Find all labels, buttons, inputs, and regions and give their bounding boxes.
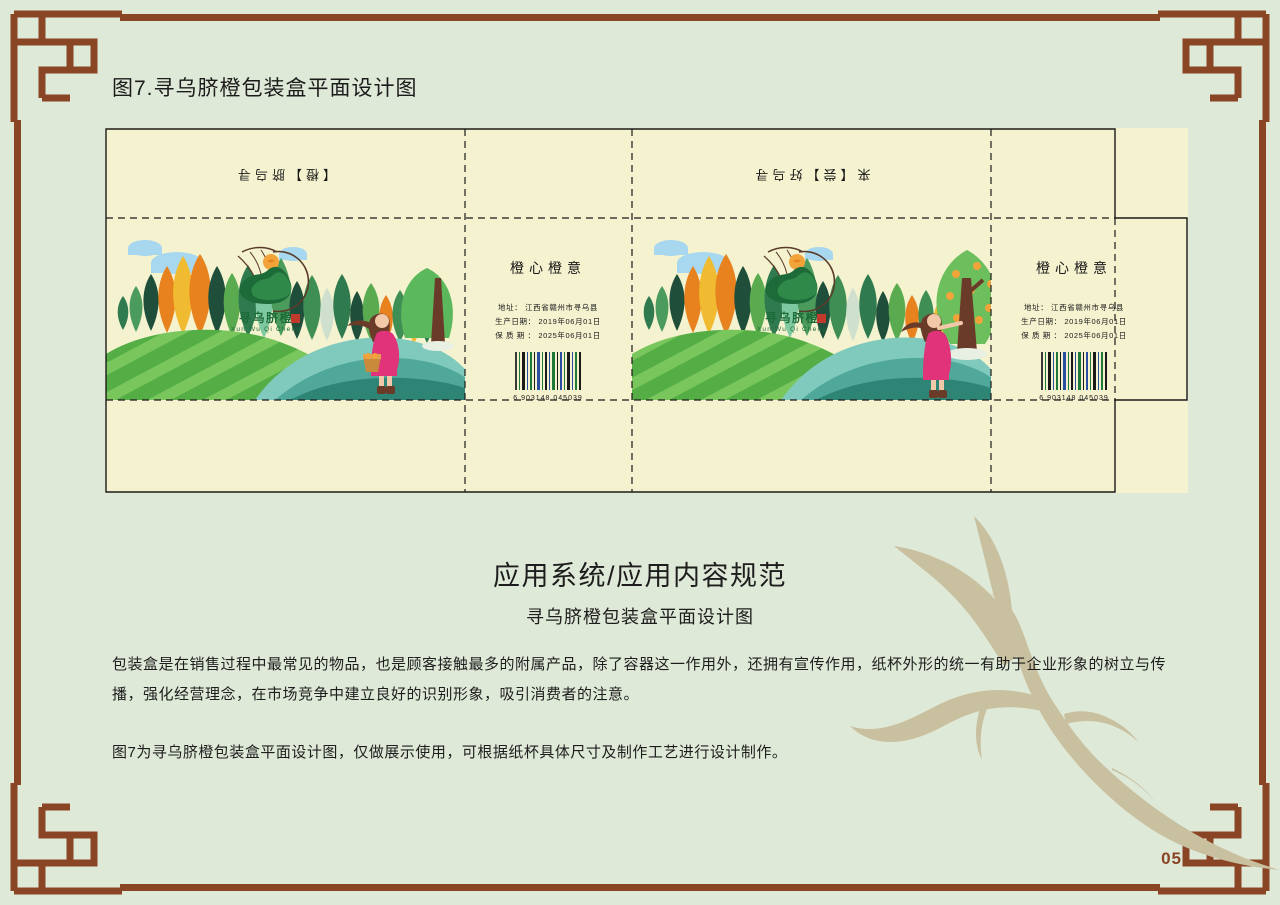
svg-text:6 903148 045039: 6 903148 045039 [1039, 395, 1109, 402]
corner-ornament-bottom-left [8, 777, 128, 897]
corner-ornament-top-right [1152, 8, 1272, 128]
figure-title: 图7.寻乌脐橙包装盒平面设计图 [112, 72, 418, 102]
main-panel-illustration-2: 寻乌脐橙 Xun Wu Qi Cheng [626, 218, 1003, 400]
section-subheading: 寻乌脐橙包装盒平面设计图 [0, 603, 1280, 629]
page-border-bottom [120, 884, 1160, 891]
svg-text:6 903148 045039: 6 903148 045039 [513, 395, 583, 402]
svg-text:生产日期： 2019年06月01日: 生产日期： 2019年06月01日 [495, 316, 601, 326]
packaging-dieline-artboard: 寻乌脐橙 Xun Wu Qi Cheng [105, 128, 1188, 493]
svg-text:地址： 江西省赣州市寻乌县: 地址： 江西省赣州市寻乌县 [498, 302, 598, 312]
svg-text:地址： 江西省赣州市寻乌县: 地址： 江西省赣州市寻乌县 [1024, 302, 1124, 312]
svg-text:橙心橙意: 橙心橙意 [510, 260, 586, 276]
svg-text:保 质 期 ： 2025年06月01日: 保 质 期 ： 2025年06月01日 [495, 330, 601, 340]
svg-text:寻乌脐橙: 寻乌脐橙 [239, 310, 293, 325]
top-flap-text-2: 来【尝】好乌寻 [751, 167, 870, 182]
main-panel-illustration-1: 寻乌脐橙 Xun Wu Qi Cheng [105, 218, 477, 400]
paragraph-1: 包装盒是在销售过程中最常见的物品，也是顾客接触最多的附属产品，除了容器这一作用外… [112, 650, 1172, 710]
page-number: 05 [1161, 849, 1182, 869]
svg-text:保 质 期 ： 2025年06月01日: 保 质 期 ： 2025年06月01日 [1021, 330, 1127, 340]
section-heading: 应用系统/应用内容规范 [0, 554, 1280, 593]
svg-text:生产日期： 2019年06月01日: 生产日期： 2019年06月01日 [1021, 316, 1127, 326]
svg-text:Xun Wu Qi Cheng: Xun Wu Qi Cheng [757, 326, 827, 333]
corner-ornament-top-left [8, 8, 128, 128]
page-border-left [14, 120, 21, 785]
svg-text:橙心橙意: 橙心橙意 [1036, 260, 1112, 276]
paragraph-2: 图7为寻乌脐橙包装盒平面设计图，仅做展示使用，可根据纸杯具体尺寸及制作工艺进行设… [112, 738, 1172, 768]
section-heading-block: 应用系统/应用内容规范 寻乌脐橙包装盒平面设计图 [0, 554, 1280, 629]
svg-text:Xun Wu Qi Cheng: Xun Wu Qi Cheng [231, 326, 301, 333]
page-border-top [120, 14, 1160, 21]
portfolio-page: 图7.寻乌脐橙包装盒平面设计图 [0, 0, 1280, 905]
body-copy: 包装盒是在销售过程中最常见的物品，也是顾客接触最多的附属产品，除了容器这一作用外… [112, 650, 1172, 768]
top-flap-text-1: 【橙】脐乌寻 [234, 167, 336, 182]
svg-text:寻乌脐橙: 寻乌脐橙 [765, 310, 819, 325]
